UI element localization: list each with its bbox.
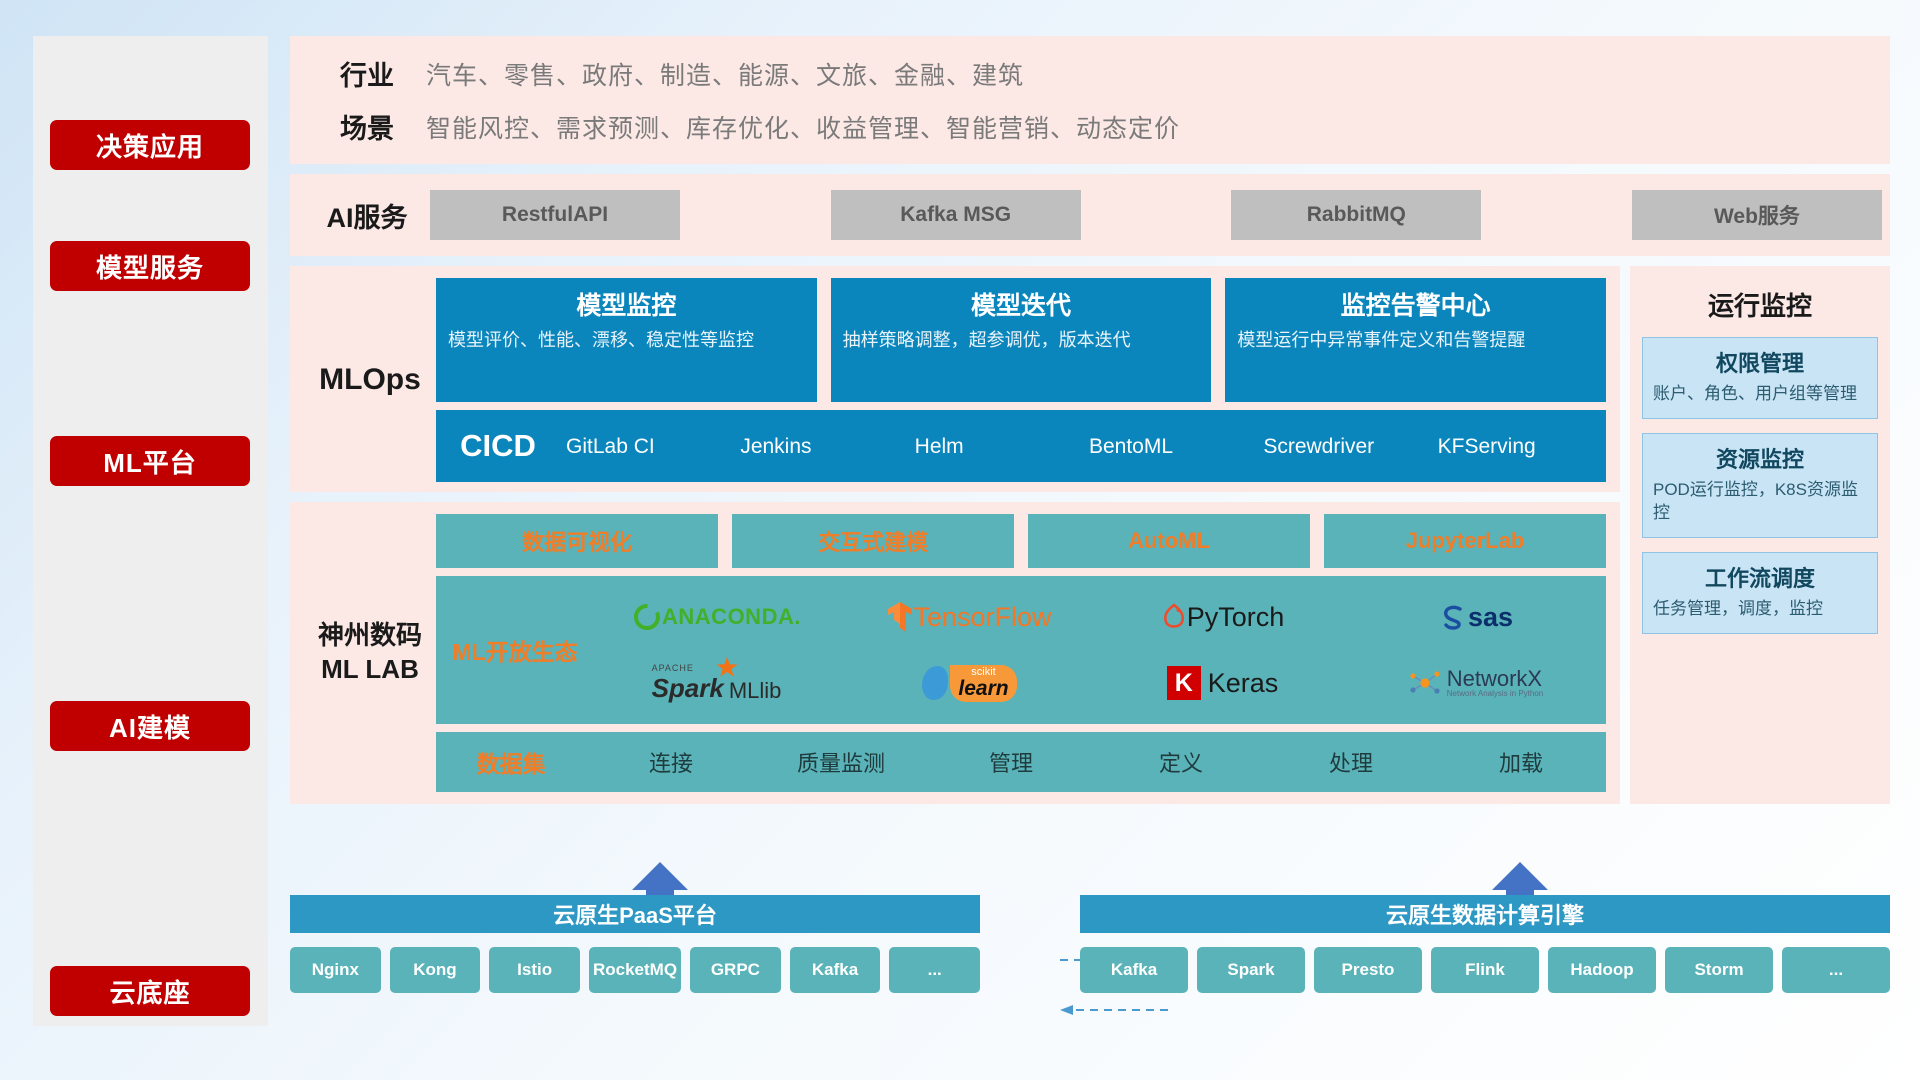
mlops-band: MLOps 模型监控 模型评价、性能、漂移、稳定性等监控 模型迭代 抽样策略调整…: [290, 266, 1620, 492]
compute-chip-spark[interactable]: Spark: [1197, 947, 1305, 993]
ai-service-chip-restfulapi[interactable]: RestfulAPI: [430, 190, 680, 240]
keras-mark-icon: K: [1167, 666, 1201, 700]
ai-service-band: AI服务 RestfulAPI Kafka MSG RabbitMQ Web服务: [290, 174, 1890, 256]
tensorflow-label: TensorFlow: [913, 602, 1051, 633]
spark-mllib-logo: APACHE Spark MLlib: [590, 650, 843, 716]
paas-platform-group: 云原生PaaS平台 Nginx Kong Istio RocketMQ GRPC…: [290, 895, 980, 993]
data-compute-engine-bar[interactable]: 云原生数据计算引擎: [1080, 895, 1890, 933]
paas-chip-grpc[interactable]: GRPC: [690, 947, 781, 993]
scenario-row: 场景 智能风控、需求预测、库存优化、收益管理、智能营销、动态定价: [308, 107, 1890, 146]
sas-label: sas: [1468, 602, 1513, 633]
scikit-learn-logo: scikit learn: [843, 650, 1096, 716]
mllab-key-line2: ML LAB: [318, 653, 422, 687]
compute-chip-hadoop[interactable]: Hadoop: [1548, 947, 1656, 993]
dataset-row: 数据集 连接 质量监测 管理 定义 处理 加载: [436, 732, 1606, 792]
card-desc: 模型运行中异常事件定义和告警提醒: [1237, 328, 1594, 352]
mlops-card-model-iteration[interactable]: 模型迭代 抽样策略调整，超参调优，版本迭代: [831, 278, 1212, 402]
compute-chip-storm[interactable]: Storm: [1665, 947, 1773, 993]
compute-chip-flink[interactable]: Flink: [1431, 947, 1539, 993]
cicd-item-kfserving[interactable]: KFServing: [1432, 436, 1606, 457]
mllab-tool-jupyterlab[interactable]: JupyterLab: [1324, 514, 1606, 568]
networkx-label: NetworkX: [1447, 668, 1542, 690]
pytorch-mark-icon: [1161, 602, 1187, 632]
tensorflow-mark-icon: [887, 601, 913, 633]
networkx-mark-icon: [1408, 668, 1442, 698]
paas-chip-kong[interactable]: Kong: [390, 947, 481, 993]
monitoring-card-resource[interactable]: 资源监控 POD运行监控，K8S资源监控: [1642, 433, 1878, 538]
compute-chip-kafka[interactable]: Kafka: [1080, 947, 1188, 993]
paas-platform-bar[interactable]: 云原生PaaS平台: [290, 895, 980, 933]
ai-service-key: AI服务: [308, 196, 426, 235]
cicd-title: CICD: [436, 428, 560, 464]
dataset-item-manage[interactable]: 管理: [926, 746, 1096, 778]
keras-label: Keras: [1208, 668, 1279, 699]
keras-logo: K Keras: [1096, 650, 1349, 716]
paas-chip-istio[interactable]: Istio: [489, 947, 580, 993]
ai-service-chip-rabbitmq[interactable]: RabbitMQ: [1231, 190, 1481, 240]
dataset-item-define[interactable]: 定义: [1096, 746, 1266, 778]
pytorch-logo: PyTorch: [1096, 584, 1349, 650]
main-column: 行业 汽车、零售、政府、制造、能源、文旅、金融、建筑 场景 智能风控、需求预测、…: [290, 36, 1890, 804]
cicd-item-jenkins[interactable]: Jenkins: [734, 436, 908, 457]
paas-chip-kafka[interactable]: Kafka: [790, 947, 881, 993]
tensorflow-logo: TensorFlow: [843, 584, 1096, 650]
mlops-card-alert-center[interactable]: 监控告警中心 模型运行中异常事件定义和告警提醒: [1225, 278, 1606, 402]
cloud-base-region: 云原生PaaS平台 Nginx Kong Istio RocketMQ GRPC…: [290, 895, 1890, 1055]
layer-label: 云底座: [109, 973, 190, 1010]
anaconda-logo: ANACONDA.: [590, 584, 843, 650]
ml-open-ecosystem: ML开放生态 ANACONDA.: [436, 576, 1606, 724]
card-desc: POD运行监控，K8S资源监控: [1653, 479, 1867, 525]
layer-pill-decision-app[interactable]: 决策应用: [50, 120, 250, 170]
scikit-label: scikit: [971, 667, 995, 678]
platform-left: MLOps 模型监控 模型评价、性能、漂移、稳定性等监控 模型迭代 抽样策略调整…: [290, 266, 1620, 804]
layer-label: ML平台: [103, 443, 197, 480]
decision-app-band: 行业 汽车、零售、政府、制造、能源、文旅、金融、建筑 场景 智能风控、需求预测、…: [290, 36, 1890, 164]
spark-apache-label: APACHE: [652, 663, 694, 673]
dataset-item-load[interactable]: 加载: [1436, 746, 1606, 778]
ai-service-chip-kafka-msg[interactable]: Kafka MSG: [831, 190, 1081, 240]
mlops-key: MLOps: [304, 278, 436, 482]
scenario-key: 场景: [308, 107, 426, 146]
platform-region: MLOps 模型监控 模型评价、性能、漂移、稳定性等监控 模型迭代 抽样策略调整…: [290, 266, 1890, 804]
layer-label: 决策应用: [96, 127, 204, 164]
cicd-item-screwdriver[interactable]: Screwdriver: [1257, 436, 1431, 457]
layer-label: 模型服务: [96, 248, 204, 285]
monitoring-title: 运行监控: [1642, 276, 1878, 337]
pytorch-label: PyTorch: [1187, 602, 1285, 633]
cicd-item-gitlab-ci[interactable]: GitLab CI: [560, 436, 734, 457]
cicd-item-helm[interactable]: Helm: [909, 436, 1083, 457]
card-desc: 任务管理，调度，监控: [1653, 598, 1867, 621]
mllab-tool-automl[interactable]: AutoML: [1028, 514, 1310, 568]
industry-value: 汽车、零售、政府、制造、能源、文旅、金融、建筑: [426, 56, 1024, 92]
cicd-item-bentoml[interactable]: BentoML: [1083, 436, 1257, 457]
anaconda-label: ANACONDA.: [662, 604, 801, 630]
ai-service-chip-web-service[interactable]: Web服务: [1632, 190, 1882, 240]
compute-chip-presto[interactable]: Presto: [1314, 947, 1422, 993]
eco-label: ML开放生态: [440, 633, 590, 667]
paas-chip-nginx[interactable]: Nginx: [290, 947, 381, 993]
monitoring-card-workflow[interactable]: 工作流调度 任务管理，调度，监控: [1642, 552, 1878, 634]
card-title: 资源监控: [1653, 442, 1867, 474]
monitoring-column: 运行监控 权限管理 账户、角色、用户组等管理 资源监控 POD运行监控，K8S资…: [1630, 266, 1890, 804]
dataset-item-quality-monitor[interactable]: 质量监测: [756, 746, 926, 778]
layer-pill-ml-platform[interactable]: ML平台: [50, 436, 250, 486]
learn-label: learn: [958, 678, 1008, 699]
card-title: 工作流调度: [1653, 561, 1867, 593]
mllab-tool-data-visualization[interactable]: 数据可视化: [436, 514, 718, 568]
sas-logo: sas: [1349, 584, 1602, 650]
paas-chip-more[interactable]: ...: [889, 947, 980, 993]
dataset-item-process[interactable]: 处理: [1266, 746, 1436, 778]
spark-label: Spark: [652, 673, 724, 704]
networkx-logo: NetworkX Network Analysis in Python: [1349, 650, 1602, 716]
layer-pill-cloud-base[interactable]: 云底座: [50, 966, 250, 1016]
cicd-row: CICD GitLab CI Jenkins Helm BentoML Scre…: [436, 410, 1606, 482]
networkx-tagline: Network Analysis in Python: [1447, 690, 1544, 698]
dataset-label: 数据集: [436, 745, 586, 779]
mllab-band: 神州数码 ML LAB 数据可视化 交互式建模 AutoML JupyterLa…: [290, 502, 1620, 804]
sas-mark-icon: [1438, 602, 1468, 632]
mllab-key-line1: 神州数码: [318, 619, 422, 653]
card-title: 模型迭代: [843, 286, 1200, 322]
dataset-item-connect[interactable]: 连接: [586, 746, 756, 778]
industry-key: 行业: [308, 54, 426, 93]
scikit-blob-icon: [922, 666, 948, 700]
card-desc: 模型评价、性能、漂移、稳定性等监控: [448, 328, 805, 352]
layer-pill-ai-modeling[interactable]: AI建模: [50, 701, 250, 751]
mllab-key: 神州数码 ML LAB: [304, 514, 436, 792]
data-compute-engine-group: 云原生数据计算引擎 Kafka Spark Presto Flink Hadoo…: [1080, 895, 1890, 993]
mllib-label: MLlib: [729, 678, 782, 704]
mlops-card-model-monitoring[interactable]: 模型监控 模型评价、性能、漂移、稳定性等监控: [436, 278, 817, 402]
card-desc: 抽样策略调整，超参调优，版本迭代: [843, 328, 1200, 352]
anaconda-mark-icon: [632, 602, 662, 632]
card-title: 权限管理: [1653, 346, 1867, 378]
layer-rail: 决策应用 模型服务 ML平台 AI建模 云底座: [33, 36, 268, 1026]
layer-pill-model-service[interactable]: 模型服务: [50, 241, 250, 291]
card-desc: 账户、角色、用户组等管理: [1653, 383, 1867, 406]
card-title: 模型监控: [448, 286, 805, 322]
industry-row: 行业 汽车、零售、政府、制造、能源、文旅、金融、建筑: [308, 54, 1890, 93]
mllab-tool-interactive-modeling[interactable]: 交互式建模: [732, 514, 1014, 568]
paas-chip-rocketmq[interactable]: RocketMQ: [589, 947, 681, 993]
spark-star-icon: [716, 657, 738, 679]
card-title: 监控告警中心: [1237, 286, 1594, 322]
architecture-diagram: 决策应用 模型服务 ML平台 AI建模 云底座 行业 汽车、零售、政府、制造、能…: [0, 0, 1920, 1080]
monitoring-card-permission[interactable]: 权限管理 账户、角色、用户组等管理: [1642, 337, 1878, 419]
layer-label: AI建模: [109, 708, 191, 745]
scenario-value: 智能风控、需求预测、库存优化、收益管理、智能营销、动态定价: [426, 109, 1180, 145]
compute-chip-more[interactable]: ...: [1782, 947, 1890, 993]
